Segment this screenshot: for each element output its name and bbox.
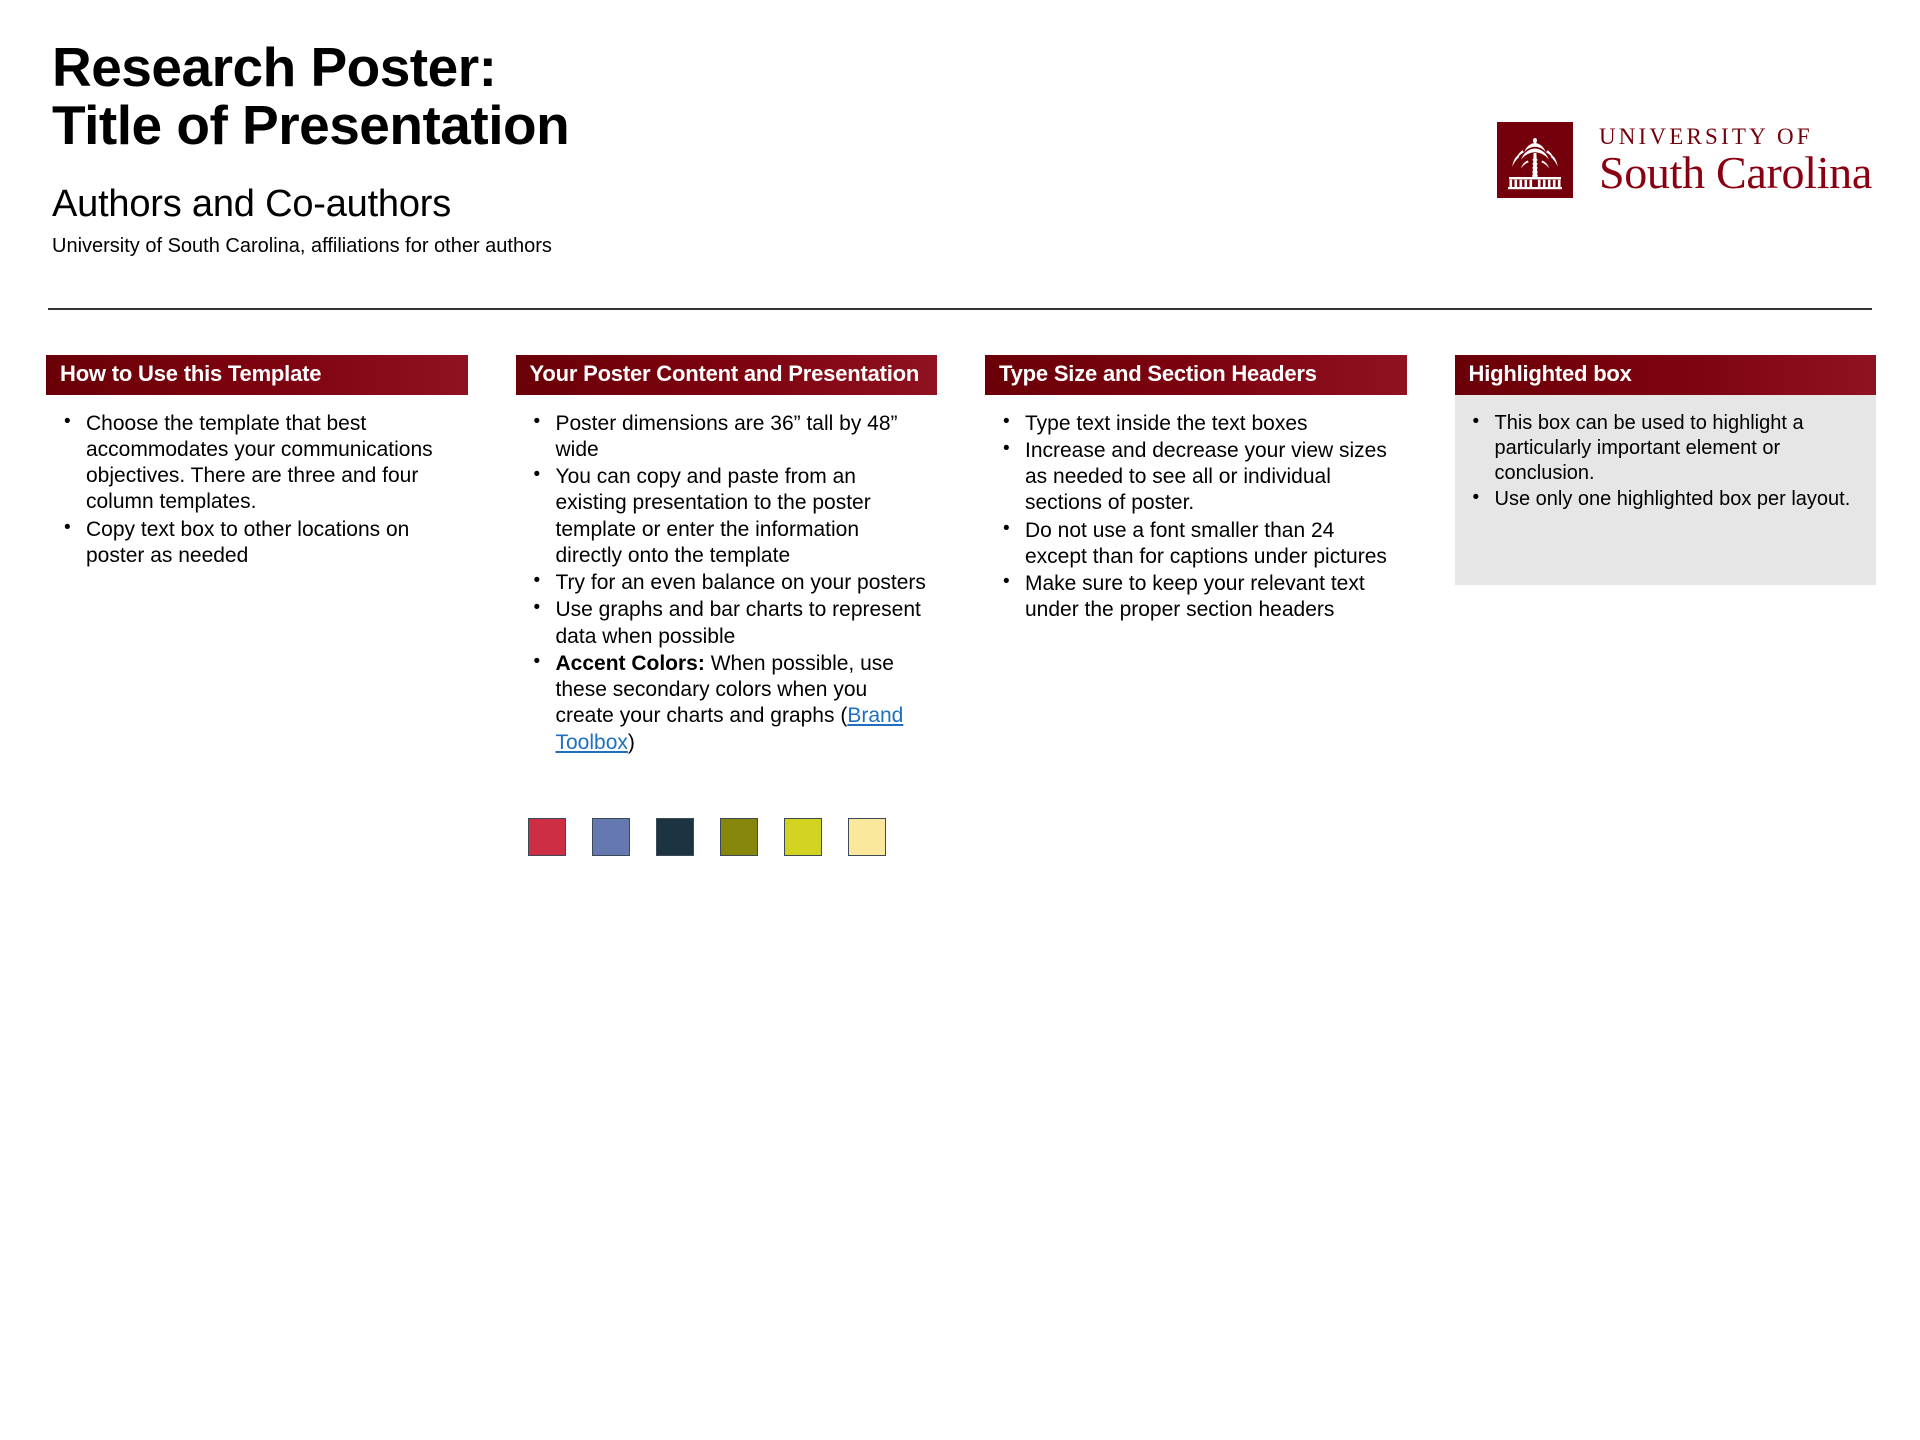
palmetto-tree-icon [1497, 122, 1573, 198]
list-item: This box can be used to highlight a part… [1467, 411, 1859, 486]
poster-header: Research Poster: Title of Presentation A… [0, 0, 1920, 265]
logo-wordmark: UNIVERSITY OF South Carolina [1599, 122, 1872, 198]
swatch-pale-yellow [848, 818, 886, 856]
swatch-dark-navy [656, 818, 694, 856]
section-header-highlighted-box: Highlighted box [1455, 355, 1877, 395]
accent-color-swatches [528, 818, 938, 856]
accent-colors-label: Accent Colors: [556, 652, 705, 675]
section-header-type-size: Type Size and Section Headers [985, 355, 1407, 395]
authors-line: Authors and Co-authors [52, 183, 1352, 227]
column-how-to-use: How to Use this Template Choose the temp… [46, 355, 468, 856]
bullet-list-highlighted-box: This box can be used to highlight a part… [1455, 411, 1877, 512]
bullet-list-how-to-use: Choose the template that best accommodat… [46, 411, 468, 570]
bullet-list-type-size: Type text inside the text boxes Increase… [985, 411, 1407, 624]
highlighted-box-panel: Highlighted box This box can be used to … [1455, 355, 1877, 585]
usc-logo: UNIVERSITY OF South Carolina [1497, 122, 1872, 198]
poster-columns: How to Use this Template Choose the temp… [0, 355, 1920, 856]
logo-south-carolina: South Carolina [1599, 150, 1872, 196]
list-item: You can copy and paste from an existing … [528, 464, 932, 569]
title-block: Research Poster: Title of Presentation A… [52, 38, 1352, 258]
list-item: Choose the template that best accommodat… [58, 411, 462, 516]
affiliation-line: University of South Carolina, affiliatio… [52, 234, 1352, 258]
list-item: Poster dimensions are 36” tall by 48” wi… [528, 411, 932, 464]
list-item-accent-colors: Accent Colors: When possible, use these … [528, 651, 932, 756]
list-item: Try for an even balance on your posters [528, 570, 932, 596]
logo-university-of: UNIVERSITY OF [1599, 125, 1872, 148]
list-item: Copy text box to other locations on post… [58, 517, 462, 570]
section-header-how-to-use: How to Use this Template [46, 355, 468, 395]
list-item: Use only one highlighted box per layout. [1467, 487, 1859, 512]
swatch-slate-blue [592, 818, 630, 856]
column-type-size: Type Size and Section Headers Type text … [985, 355, 1407, 856]
swatch-olive [720, 818, 758, 856]
list-item: Do not use a font smaller than 24 except… [997, 518, 1401, 571]
page-title: Research Poster: Title of Presentation [52, 38, 1352, 155]
list-item: Type text inside the text boxes [997, 411, 1401, 437]
column-poster-content: Your Poster Content and Presentation Pos… [516, 355, 938, 856]
swatch-crimson-red [528, 818, 566, 856]
bullet-list-poster-content: Poster dimensions are 36” tall by 48” wi… [516, 411, 938, 756]
header-divider [48, 308, 1872, 310]
accent-colors-text-end: ) [628, 731, 635, 754]
column-highlighted-box: Highlighted box This box can be used to … [1455, 355, 1877, 856]
swatch-yellow-green [784, 818, 822, 856]
list-item: Make sure to keep your relevant text und… [997, 571, 1401, 624]
list-item: Use graphs and bar charts to represent d… [528, 597, 932, 650]
list-item: Increase and decrease your view sizes as… [997, 438, 1401, 517]
section-header-poster-content: Your Poster Content and Presentation [516, 355, 938, 395]
